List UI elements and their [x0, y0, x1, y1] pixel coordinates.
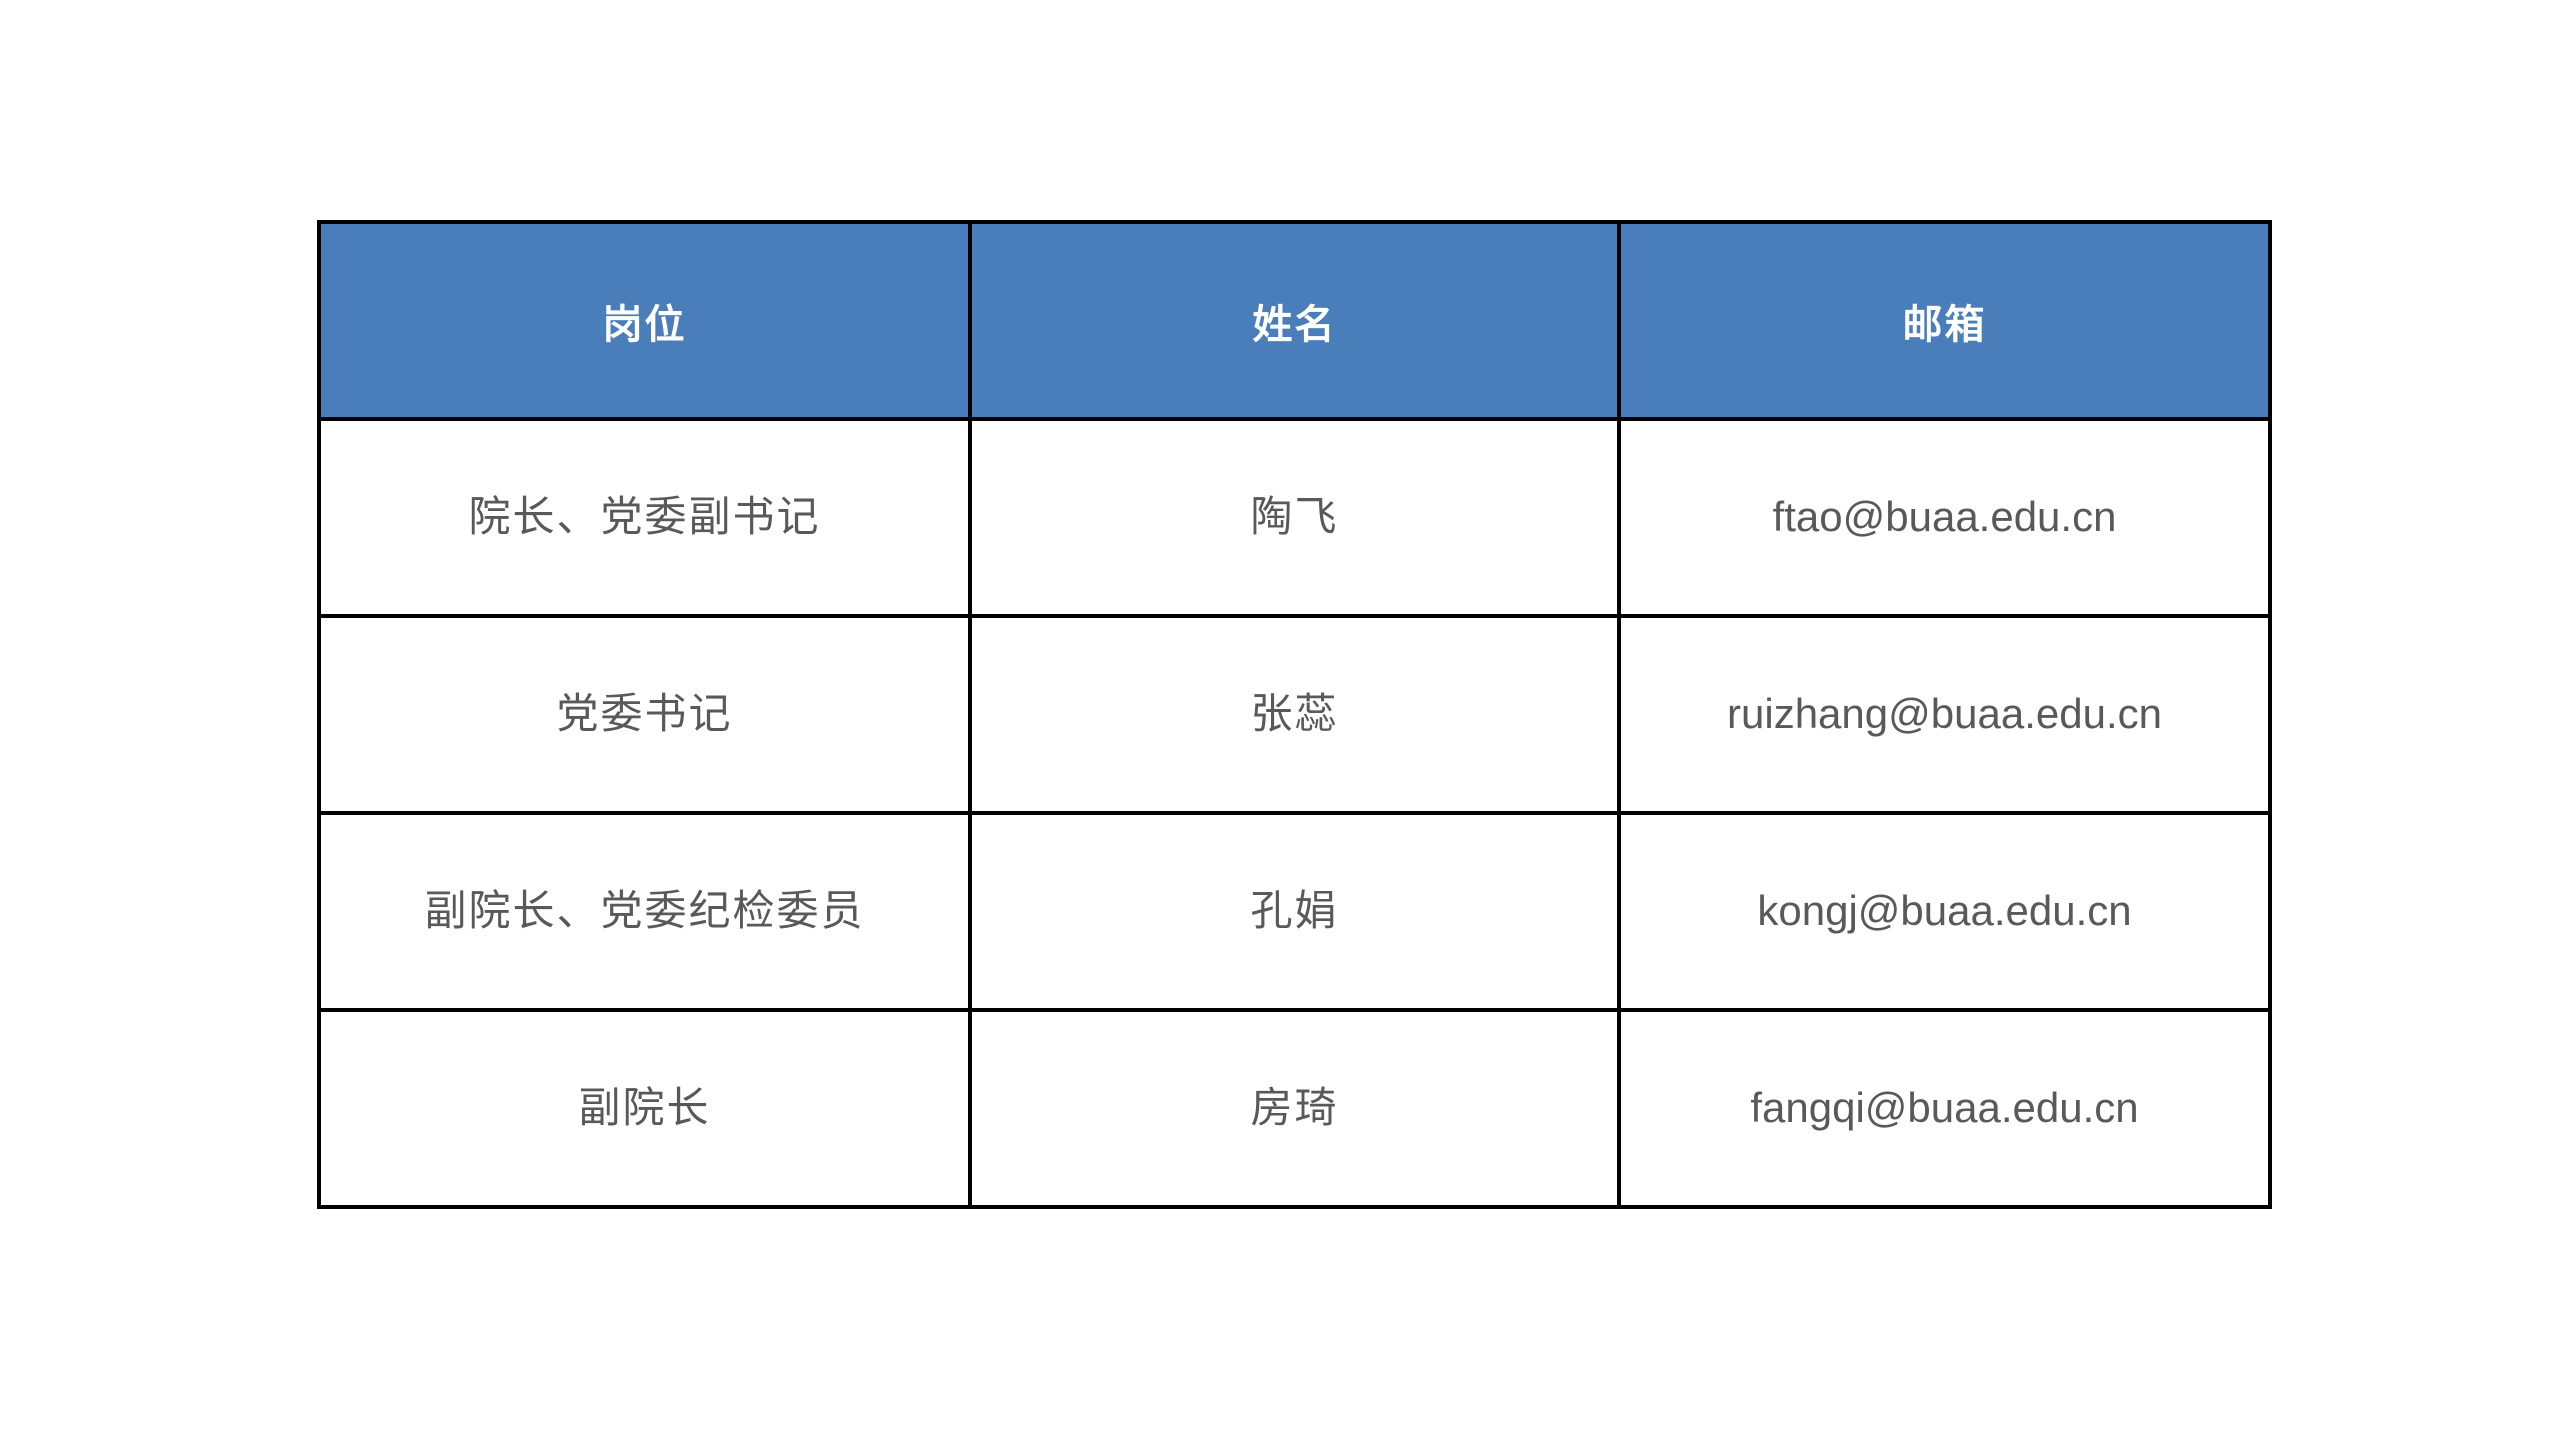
table-header: 岗位 姓名 邮箱	[319, 222, 2270, 419]
cell-email: ftao@buaa.edu.cn	[1619, 419, 2270, 616]
cell-name: 孔娟	[970, 813, 1619, 1010]
cell-position: 副院长、党委纪检委员	[319, 813, 970, 1010]
column-header-email: 邮箱	[1619, 222, 2270, 419]
table-body: 院长、党委副书记 陶飞 ftao@buaa.edu.cn 党委书记 张蕊 rui…	[319, 419, 2270, 1207]
cell-name: 张蕊	[970, 616, 1619, 813]
cell-email: kongj@buaa.edu.cn	[1619, 813, 2270, 1010]
staff-directory-table-container: 岗位 姓名 邮箱 院长、党委副书记 陶飞 ftao@buaa.edu.cn 党委…	[317, 220, 2268, 1187]
staff-directory-table: 岗位 姓名 邮箱 院长、党委副书记 陶飞 ftao@buaa.edu.cn 党委…	[317, 220, 2272, 1209]
cell-email: fangqi@buaa.edu.cn	[1619, 1010, 2270, 1207]
table-row: 党委书记 张蕊 ruizhang@buaa.edu.cn	[319, 616, 2270, 813]
table-row: 副院长 房琦 fangqi@buaa.edu.cn	[319, 1010, 2270, 1207]
page-root: 岗位 姓名 邮箱 院长、党委副书记 陶飞 ftao@buaa.edu.cn 党委…	[0, 0, 2560, 1440]
cell-position: 院长、党委副书记	[319, 419, 970, 616]
table-header-row: 岗位 姓名 邮箱	[319, 222, 2270, 419]
table-row: 院长、党委副书记 陶飞 ftao@buaa.edu.cn	[319, 419, 2270, 616]
column-header-name: 姓名	[970, 222, 1619, 419]
cell-position: 党委书记	[319, 616, 970, 813]
table-row: 副院长、党委纪检委员 孔娟 kongj@buaa.edu.cn	[319, 813, 2270, 1010]
cell-name: 陶飞	[970, 419, 1619, 616]
cell-name: 房琦	[970, 1010, 1619, 1207]
cell-position: 副院长	[319, 1010, 970, 1207]
cell-email: ruizhang@buaa.edu.cn	[1619, 616, 2270, 813]
column-header-position: 岗位	[319, 222, 970, 419]
